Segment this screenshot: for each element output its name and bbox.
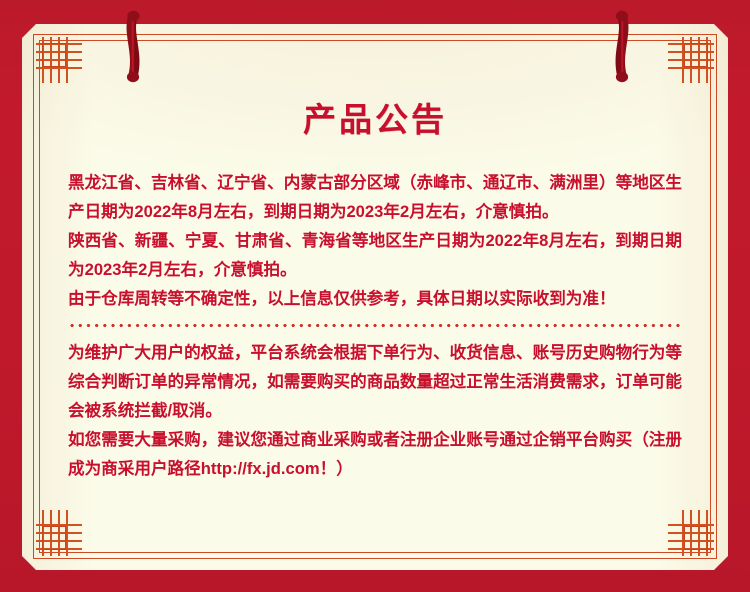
announcement-banner: 产品公告 黑龙江省、吉林省、辽宁省、内蒙古部分区域（赤峰市、通辽市、满洲里）等地…	[0, 0, 750, 592]
paper-panel: 产品公告 黑龙江省、吉林省、辽宁省、内蒙古部分区域（赤峰市、通辽市、满洲里）等地…	[22, 24, 728, 570]
dotted-divider	[68, 318, 682, 327]
ribbon-strap-right-icon	[611, 10, 624, 82]
paragraph-region-northeast: 黑龙江省、吉林省、辽宁省、内蒙古部分区域（赤峰市、通辽市、满洲里）等地区生产日期…	[68, 168, 682, 226]
notice-content: 产品公告 黑龙江省、吉林省、辽宁省、内蒙古部分区域（赤峰市、通辽市、满洲里）等地…	[68, 74, 682, 540]
paragraph-warehouse-disclaimer: 由于仓库周转等不确定性，以上信息仅供参考，具体日期以实际收到为准！	[68, 284, 682, 313]
paragraph-region-northwest: 陕西省、新疆、宁夏、甘肃省、青海省等地区生产日期为2022年8月左右，到期日期为…	[68, 226, 682, 284]
ribbon-strap-left-icon	[122, 10, 135, 82]
paragraph-bulk-purchase: 如您需要大量采购，建议您通过商业采购或者注册企业账号通过企销平台购买（注册成为商…	[68, 425, 682, 483]
page-title: 产品公告	[68, 93, 682, 141]
paragraph-risk-control: 为维护广大用户的权益，平台系统会根据下单行为、收货信息、账号历史购物行为等综合判…	[68, 338, 682, 425]
